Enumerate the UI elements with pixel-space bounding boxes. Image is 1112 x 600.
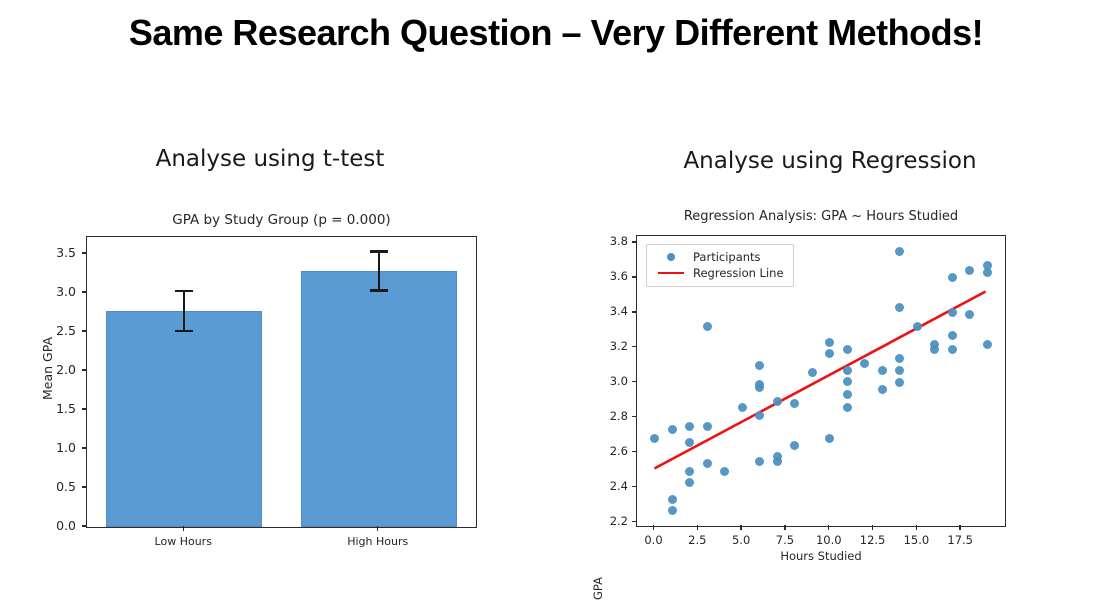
bar-y-tickmark (82, 447, 87, 448)
bar-y-tickmark (82, 330, 87, 331)
scatter-point[interactable] (668, 495, 677, 504)
scatter-x-tickmark (653, 525, 654, 530)
scatter-chart-axes: Participants Regression Line (636, 235, 1006, 527)
bar-x-tickmark (183, 526, 184, 531)
scatter-y-axis-label: GPA (591, 577, 605, 600)
scatter-y-tick-label: 3.6 (588, 269, 628, 283)
bar-y-tickmark (82, 408, 87, 409)
scatter-y-tick-label: 2.8 (588, 409, 628, 423)
scatter-chart-title: Regression Analysis: GPA ~ Hours Studied (636, 209, 1006, 224)
dot-marker-icon (654, 253, 688, 261)
error-bar-low-hours (172, 290, 196, 332)
bar-y-tick-label: 3.0 (32, 284, 76, 299)
scatter-point[interactable] (755, 361, 764, 370)
bar-x-tickmark (377, 526, 378, 531)
scatter-point[interactable] (773, 457, 782, 466)
scatter-point[interactable] (878, 385, 887, 394)
scatter-x-tick-label: 17.5 (937, 533, 983, 547)
bar-y-tickmark (82, 291, 87, 292)
scatter-y-tick-label: 3.2 (588, 339, 628, 353)
scatter-point[interactable] (983, 340, 992, 349)
scatter-x-tickmark (828, 525, 829, 530)
scatter-point[interactable] (878, 366, 887, 375)
scatter-point[interactable] (948, 331, 957, 340)
slide-canvas: Same Research Question – Very Different … (0, 0, 1112, 581)
scatter-point[interactable] (948, 345, 957, 354)
legend-item-regression-line: Regression Line (654, 265, 784, 281)
scatter-x-tickmark (784, 525, 785, 530)
line-marker-icon (654, 272, 688, 274)
bar-y-tickmark (82, 252, 87, 253)
scatter-x-tick-label: 10.0 (806, 533, 852, 547)
scatter-point[interactable] (668, 506, 677, 515)
scatter-y-tick-label: 3.4 (588, 304, 628, 318)
scatter-y-tickmark (632, 486, 637, 487)
scatter-point[interactable] (685, 438, 694, 447)
scatter-point[interactable] (703, 459, 712, 468)
bar-x-tick-label: High Hours (318, 535, 438, 548)
page-title: Same Research Question – Very Different … (0, 12, 1112, 54)
scatter-x-tickmark (740, 525, 741, 530)
bar-y-tickmark (82, 369, 87, 370)
ttest-bar-chart: GPA by Study Group (p = 0.000) Mean GPA … (0, 200, 530, 570)
bar-y-tick-label: 3.5 (32, 245, 76, 260)
scatter-y-tickmark (632, 276, 637, 277)
scatter-y-tickmark (632, 451, 637, 452)
scatter-x-tickmark (872, 525, 873, 530)
scatter-y-tickmark (632, 311, 637, 312)
scatter-point[interactable] (668, 425, 677, 434)
bar-chart-axes (86, 236, 477, 528)
scatter-y-tick-label: 2.4 (588, 479, 628, 493)
bar-plot-area (87, 237, 476, 527)
bar-low-hours[interactable] (106, 311, 262, 527)
bar-y-tick-label: 1.5 (32, 401, 76, 416)
scatter-y-tickmark (632, 381, 637, 382)
scatter-x-tick-label: 2.5 (674, 533, 720, 547)
scatter-point[interactable] (755, 457, 764, 466)
bar-high-hours[interactable] (301, 271, 457, 527)
error-bar-high-hours (367, 250, 391, 291)
scatter-point[interactable] (825, 349, 834, 358)
scatter-x-tickmark (916, 525, 917, 530)
scatter-y-tickmark (632, 521, 637, 522)
regression-scatter-chart: Regression Analysis: GPA ~ Hours Studied… (565, 200, 1112, 581)
scatter-point[interactable] (843, 345, 852, 354)
bar-y-tickmark (82, 525, 87, 526)
bar-y-tickmark (82, 486, 87, 487)
bar-x-tick-label: Low Hours (123, 535, 243, 548)
scatter-point[interactable] (808, 368, 817, 377)
scatter-x-tick-label: 7.5 (762, 533, 808, 547)
bar-y-tick-label: 1.0 (32, 440, 76, 455)
bar-y-tick-label: 2.0 (32, 362, 76, 377)
scatter-y-tick-label: 2.2 (588, 514, 628, 528)
scatter-point[interactable] (703, 422, 712, 431)
scatter-x-tick-label: 15.0 (893, 533, 939, 547)
chart-legend: Participants Regression Line (646, 244, 794, 287)
scatter-x-tickmark (697, 525, 698, 530)
scatter-y-tick-label: 3.8 (588, 234, 628, 248)
bar-y-tick-label: 2.5 (32, 323, 76, 338)
bar-y-tick-label: 0.0 (32, 518, 76, 533)
scatter-point[interactable] (703, 322, 712, 331)
bar-y-tick-label: 0.5 (32, 479, 76, 494)
scatter-point[interactable] (843, 366, 852, 375)
scatter-y-tickmark (632, 346, 637, 347)
scatter-y-tick-label: 3.0 (588, 374, 628, 388)
regression-line (654, 292, 985, 469)
scatter-x-tickmark (959, 525, 960, 530)
scatter-point[interactable] (843, 377, 852, 386)
panel-heading-right: Analyse using Regression (590, 148, 1070, 174)
scatter-point[interactable] (685, 422, 694, 431)
scatter-y-tickmark (632, 416, 637, 417)
scatter-y-tickmark (632, 241, 637, 242)
scatter-x-tick-label: 5.0 (718, 533, 764, 547)
scatter-point[interactable] (685, 478, 694, 487)
bar-chart-title: GPA by Study Group (p = 0.000) (86, 212, 477, 228)
scatter-point[interactable] (738, 403, 747, 412)
panel-heading-left: Analyse using t-test (30, 146, 510, 172)
legend-label-regression-line: Regression Line (693, 266, 784, 280)
scatter-point[interactable] (843, 403, 852, 412)
scatter-y-tick-label: 2.6 (588, 444, 628, 458)
scatter-x-tick-label: 0.0 (631, 533, 677, 547)
scatter-x-tick-label: 12.5 (850, 533, 896, 547)
legend-item-participants: Participants (654, 249, 784, 265)
scatter-x-axis-label: Hours Studied (636, 549, 1006, 563)
legend-label-participants: Participants (693, 250, 761, 264)
